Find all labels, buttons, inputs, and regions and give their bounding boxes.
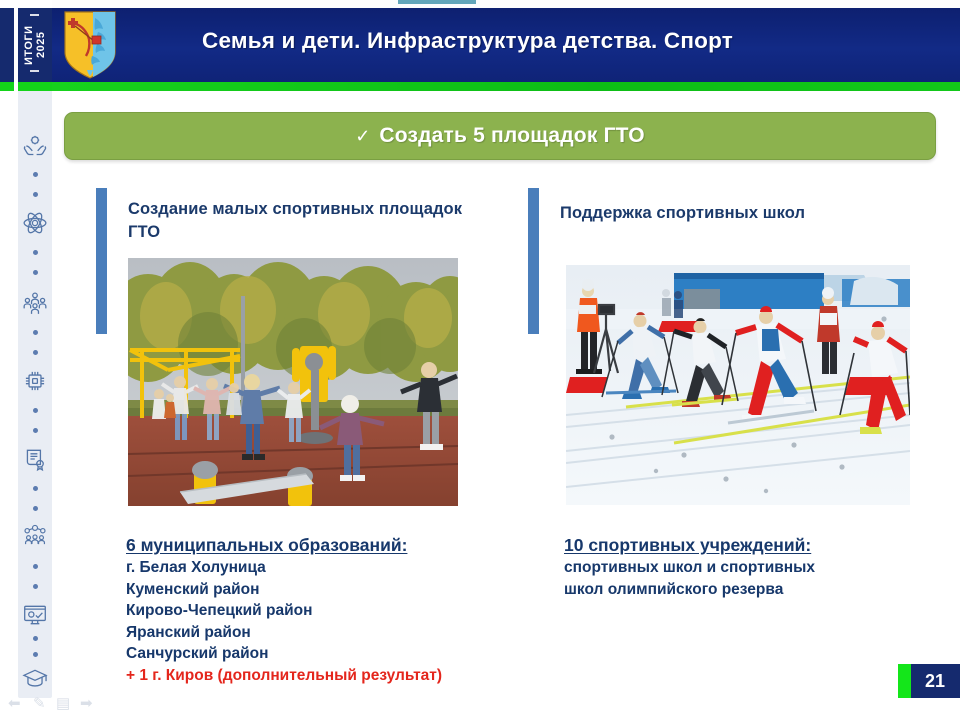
- sidebar-dot: [33, 584, 38, 589]
- facts-right-item: спортивных школ и спортивных: [564, 557, 954, 579]
- sidebar-dot: [33, 486, 38, 491]
- facts-right: 10 спортивных учреждений: спортивных шко…: [564, 534, 954, 600]
- top-strip: [0, 0, 960, 8]
- top-teal-marker: [398, 0, 476, 4]
- column-accent-bar: [96, 188, 107, 334]
- sidebar-tab-accent-main: [18, 82, 52, 91]
- kirov-oblast-coat-of-arms: [62, 10, 118, 80]
- column-accent-bar: [528, 188, 539, 334]
- slide-sorter-icon[interactable]: ▤: [56, 696, 70, 711]
- facts-left-item: Куменский район: [126, 579, 546, 601]
- left-sidebar: ИТОГИ 2025: [0, 0, 52, 721]
- sidebar-dot: [33, 408, 38, 413]
- slide-nav-controls[interactable]: ⬅ ✎ ▤ ➡: [0, 692, 100, 718]
- atom-icon[interactable]: [20, 208, 50, 238]
- presentation-slide: ИТОГИ 2025: [0, 0, 960, 721]
- sidebar-tab-strip-outer[interactable]: [0, 8, 14, 82]
- sidebar-tab-accent-outer: [0, 82, 14, 91]
- certificate-icon[interactable]: [20, 444, 50, 474]
- sidebar-dot: [33, 250, 38, 255]
- team-network-icon[interactable]: [20, 522, 50, 552]
- page-number: 21: [925, 671, 945, 692]
- goal-banner: ✓ Создать 5 площадок ГТО: [64, 112, 936, 160]
- sidebar-dot: [33, 636, 38, 641]
- prev-slide-arrow[interactable]: ⬅: [8, 696, 21, 711]
- column-left-heading: Создание малых спортивных площадок ГТО: [128, 198, 498, 244]
- sidebar-dot: [33, 270, 38, 275]
- facts-left-item: Кирово-Чепецкий район: [126, 600, 546, 622]
- sidebar-dot: [33, 652, 38, 657]
- column-right-heading: Поддержка спортивных школ: [560, 202, 930, 225]
- edit-pencil-icon[interactable]: ✎: [33, 696, 46, 711]
- next-slide-arrow[interactable]: ➡: [80, 696, 93, 711]
- sidebar-dot: [33, 428, 38, 433]
- facts-right-title: 10 спортивных учреждений:: [564, 534, 954, 556]
- microchip-icon[interactable]: [20, 366, 50, 396]
- sidebar-dot: [33, 564, 38, 569]
- sidebar-dot: [33, 330, 38, 335]
- sidebar-dot: [33, 192, 38, 197]
- slide-header: Семья и дети. Инфраструктура детства. Сп…: [52, 8, 960, 82]
- hands-holding-gear-icon[interactable]: [20, 130, 50, 160]
- sidebar-dot: [33, 350, 38, 355]
- header-accent-strip: [52, 82, 960, 91]
- people-group-icon[interactable]: [20, 288, 50, 318]
- sidebar-vertical-label: ИТОГИ 2025: [18, 8, 52, 82]
- playground-photo: [128, 258, 458, 506]
- facts-left-title: 6 муниципальных образований:: [126, 534, 546, 556]
- facts-left-item: Санчурский район: [126, 643, 546, 665]
- facts-left-extra-result: + 1 г. Киров (дополнительный результат): [126, 665, 546, 687]
- facts-left-item: г. Белая Холуница: [126, 557, 546, 579]
- page-badge-accent: [898, 664, 911, 698]
- page-title: Семья и дети. Инфраструктура детства. Сп…: [202, 28, 942, 54]
- sidebar-dot: [33, 506, 38, 511]
- facts-left-item: Яранский район: [126, 622, 546, 644]
- facts-right-item: школ олимпийского резерва: [564, 579, 954, 601]
- ski-race-photo: [566, 265, 910, 505]
- check-icon: ✓: [355, 126, 370, 147]
- graduation-cap-icon[interactable]: [20, 664, 50, 694]
- facts-left: 6 муниципальных образований: г. Белая Хо…: [126, 534, 546, 686]
- monitor-check-icon[interactable]: [20, 600, 50, 630]
- sidebar-dot: [33, 172, 38, 177]
- goal-banner-text: Создать 5 площадок ГТО: [379, 124, 644, 148]
